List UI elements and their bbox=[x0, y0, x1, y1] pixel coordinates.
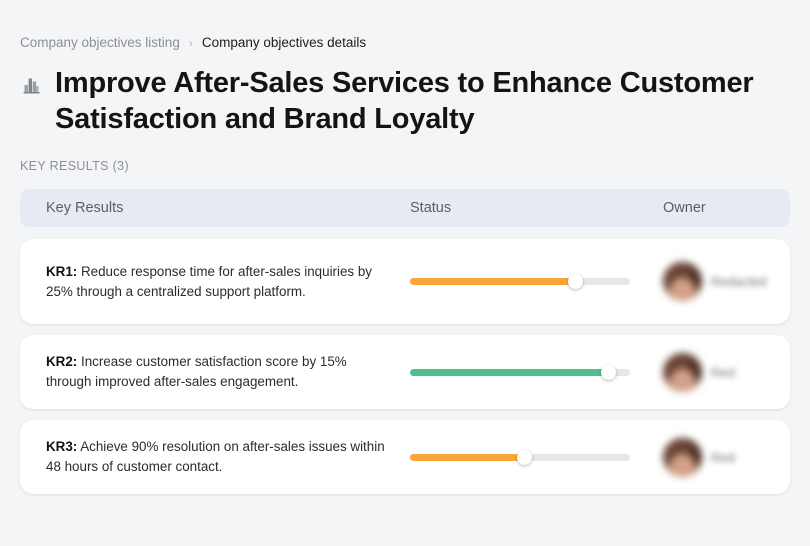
column-header-owner-label: Owner bbox=[663, 200, 706, 216]
key-result-text: Increase customer satisfaction score by … bbox=[46, 354, 347, 389]
objective-details-page: Company objectives listing › Company obj… bbox=[0, 0, 810, 546]
status-cell bbox=[410, 274, 663, 290]
owner-name: Redacted bbox=[711, 274, 767, 289]
page-title-row: Improve After-Sales Services to Enhance … bbox=[20, 65, 790, 137]
breadcrumb-current: Company objectives details bbox=[202, 34, 366, 52]
progress-slider[interactable] bbox=[410, 274, 630, 290]
slider-fill bbox=[410, 369, 608, 376]
key-result-tag: KR1: bbox=[46, 264, 77, 279]
column-header-status-label: Status bbox=[410, 200, 451, 216]
status-cell bbox=[410, 364, 663, 380]
chevron-right-icon: › bbox=[189, 34, 193, 52]
slider-thumb[interactable] bbox=[601, 365, 616, 380]
company-building-icon bbox=[20, 68, 44, 100]
slider-fill bbox=[410, 454, 524, 461]
slider-thumb[interactable] bbox=[517, 450, 532, 465]
avatar bbox=[663, 353, 702, 392]
owner-cell[interactable]: Redacted bbox=[663, 262, 790, 301]
column-header-owner: Owner bbox=[663, 199, 790, 217]
owner-name: Red bbox=[711, 365, 735, 380]
owner-cell[interactable]: Red bbox=[663, 438, 790, 477]
key-result-description: KR2: Increase customer satisfaction scor… bbox=[20, 338, 410, 406]
progress-slider[interactable] bbox=[410, 364, 630, 380]
status-cell bbox=[410, 449, 663, 465]
page-title: Improve After-Sales Services to Enhance … bbox=[55, 65, 755, 137]
table-row[interactable]: KR3: Achieve 90% resolution on after-sal… bbox=[20, 420, 790, 494]
column-header-key-results: Key Results bbox=[20, 199, 410, 217]
owner-cell[interactable]: Red bbox=[663, 353, 790, 392]
breadcrumb: Company objectives listing › Company obj… bbox=[20, 0, 790, 52]
key-result-description: KR3: Achieve 90% resolution on after-sal… bbox=[20, 423, 410, 491]
key-result-text: Reduce response time for after-sales inq… bbox=[46, 264, 372, 299]
table-row[interactable]: KR2: Increase customer satisfaction scor… bbox=[20, 335, 790, 409]
table-header-row: Key Results Status Owner bbox=[20, 189, 790, 227]
key-result-tag: KR2: bbox=[46, 354, 77, 369]
key-result-text: Achieve 90% resolution on after-sales is… bbox=[46, 439, 385, 474]
column-header-status: Status bbox=[410, 199, 663, 217]
table-row[interactable]: KR1: Reduce response time for after-sale… bbox=[20, 239, 790, 324]
progress-slider[interactable] bbox=[410, 449, 630, 465]
slider-thumb[interactable] bbox=[568, 274, 583, 289]
key-result-description: KR1: Reduce response time for after-sale… bbox=[20, 248, 410, 316]
avatar bbox=[663, 262, 702, 301]
key-result-tag: KR3: bbox=[46, 439, 77, 454]
key-results-section-label: KEY RESULTS (3) bbox=[20, 159, 790, 173]
owner-name: Red bbox=[711, 450, 735, 465]
breadcrumb-link-listing[interactable]: Company objectives listing bbox=[20, 34, 180, 52]
slider-fill bbox=[410, 278, 575, 285]
column-header-key-results-label: Key Results bbox=[46, 200, 123, 216]
avatar bbox=[663, 438, 702, 477]
key-results-list: KR1: Reduce response time for after-sale… bbox=[20, 239, 790, 494]
